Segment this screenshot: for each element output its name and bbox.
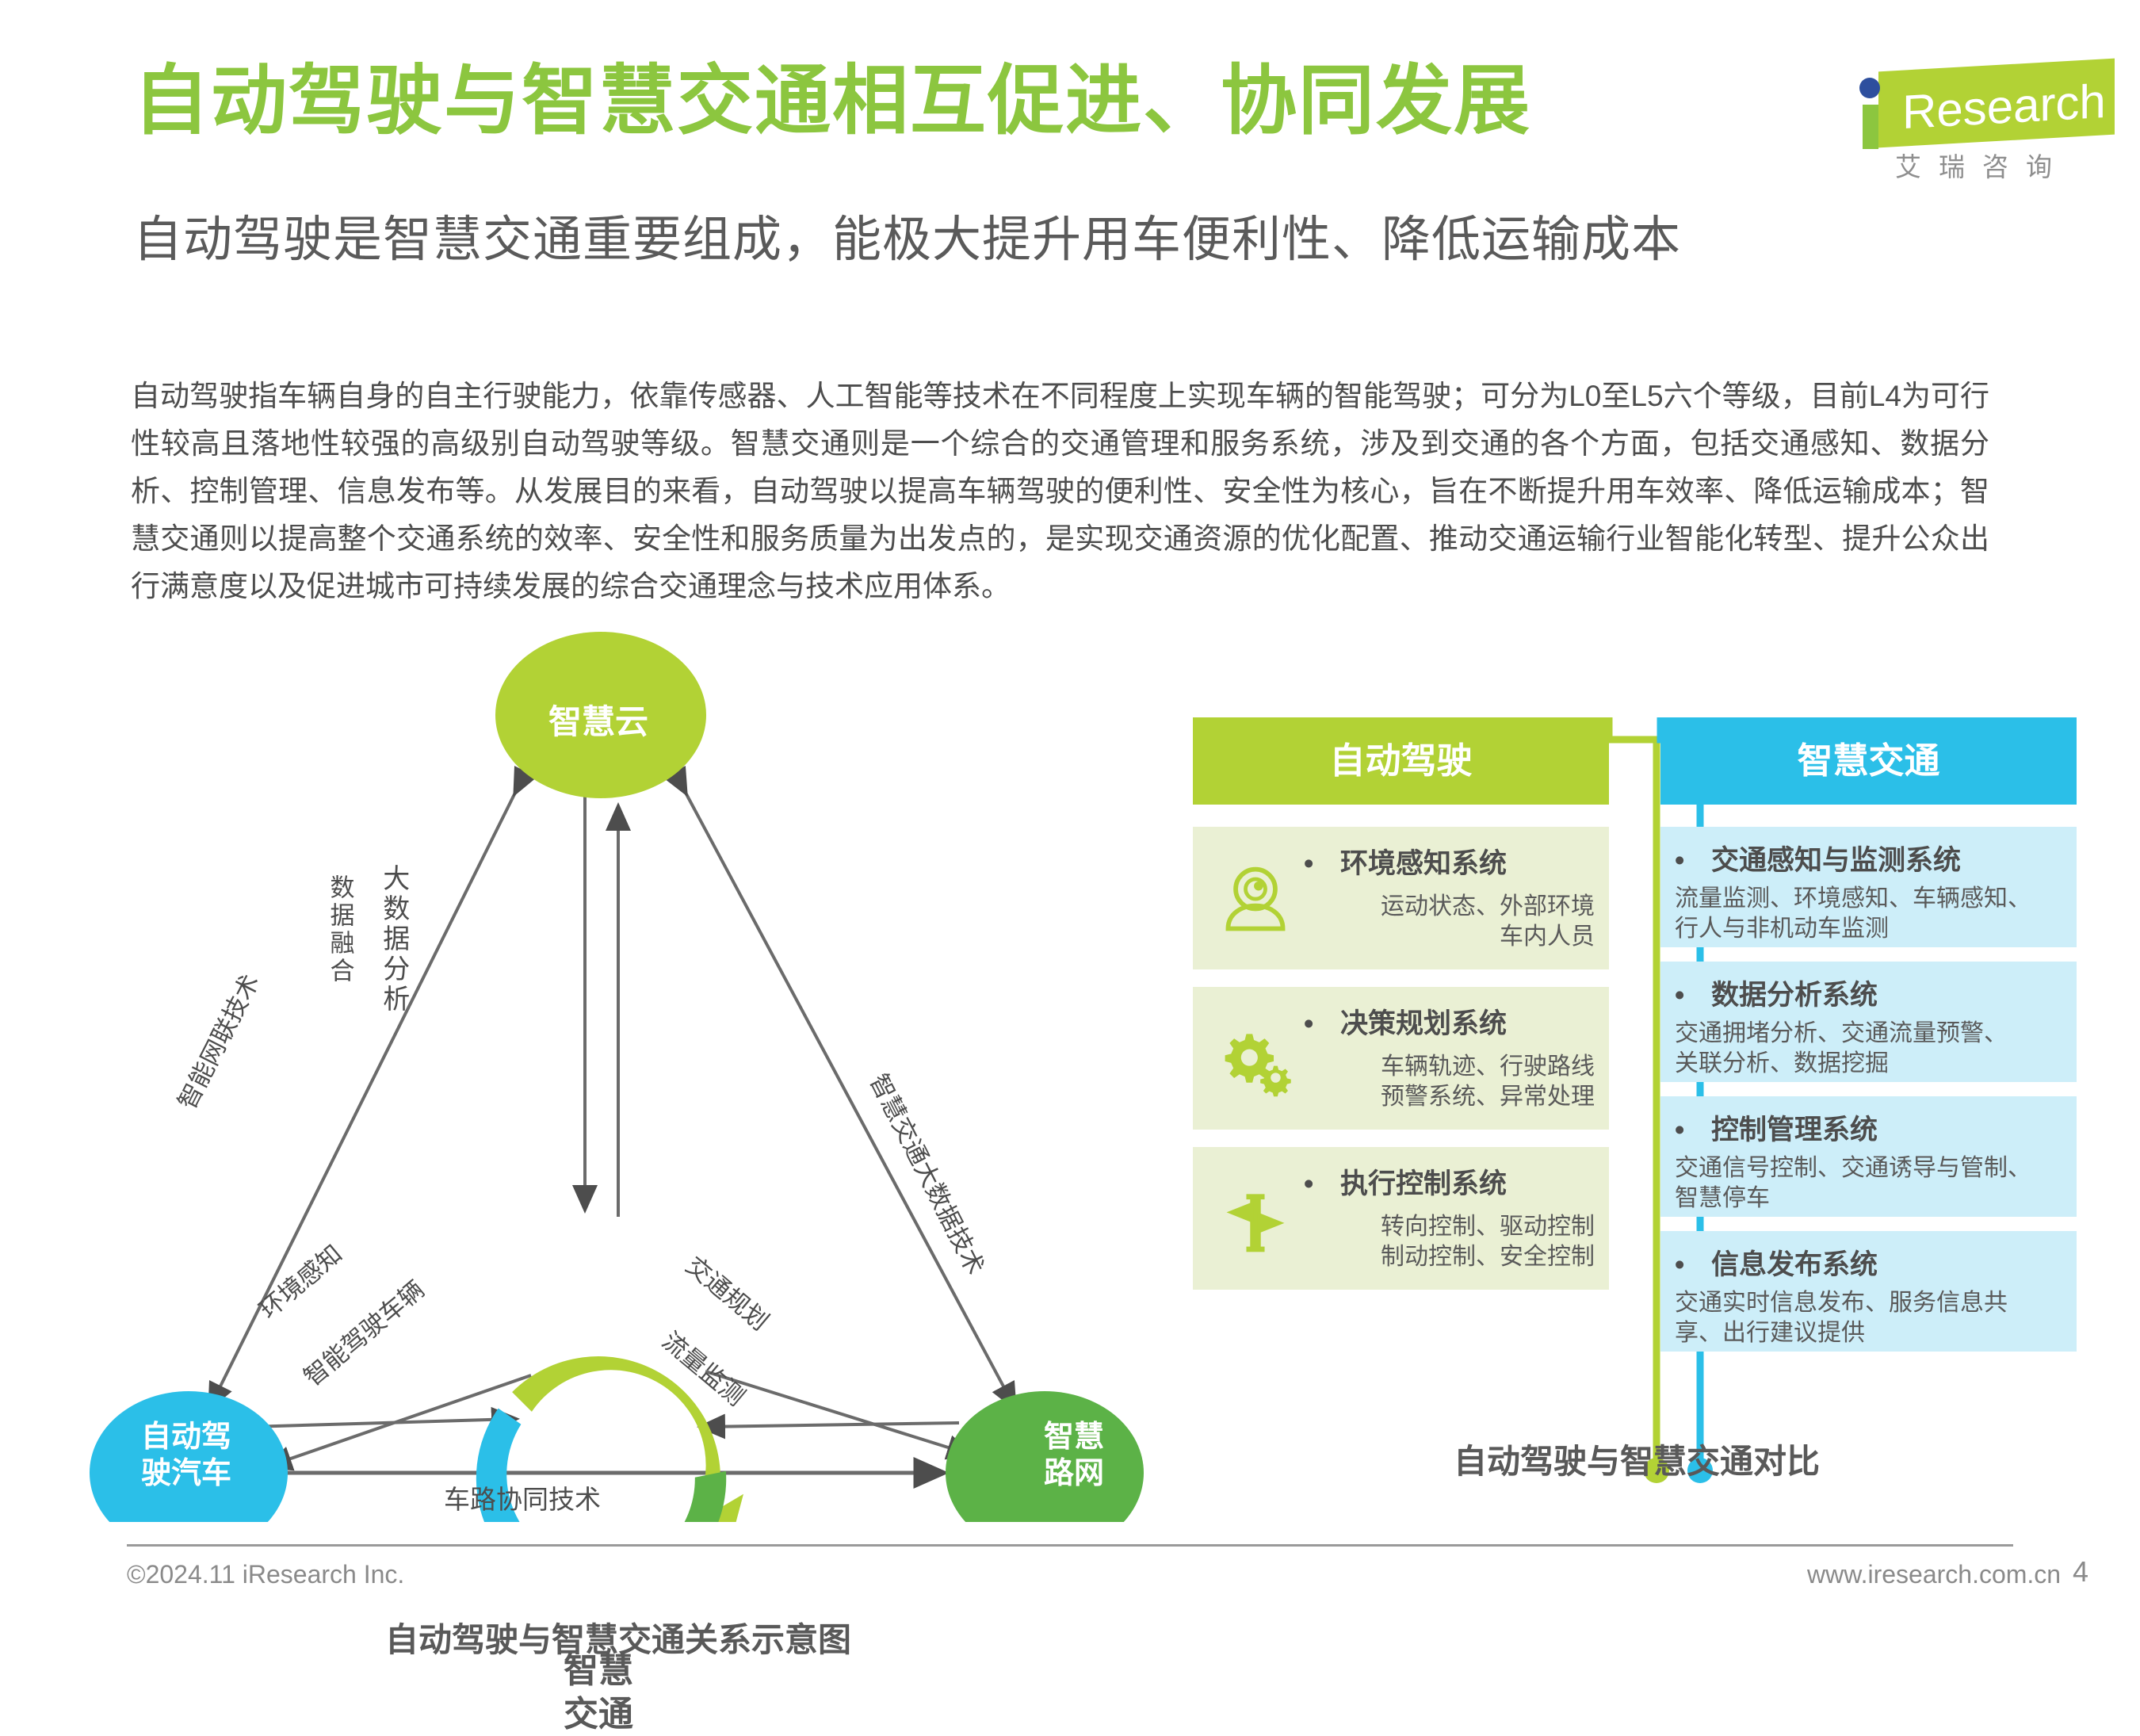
card-title-text: 信息发布系统 [1711,1249,1878,1280]
card-title-text: 环境感知系统 [1340,848,1507,879]
camera-icon [1207,862,1304,938]
card-title-text: 数据分析系统 [1711,980,1878,1011]
edge-cloud-car [210,793,515,1407]
card-title: •控制管理系统 [1675,1114,2062,1147]
card-environment-perception[interactable]: •环境感知系统 运动状态、外部环境 车内人员 [1193,827,1609,969]
page-title: 自动驾驶与智慧交通相互促进、协同发展 [133,63,1531,140]
card-description: 交通实时信息发布、服务信息共 享、出行建议提供 [1675,1288,2062,1349]
node-label-autonomous-car: 自动驾 驶汽车 [95,1419,277,1493]
card-traffic-perception[interactable]: •交通感知与监测系统 流量监测、环境感知、车辆感知、 行人与非机动车监测 [1660,827,2077,947]
card-title: •信息发布系统 [1675,1248,2062,1282]
edge-road-ring-up [701,1423,959,1427]
footer-copyright: ©2024.11 iResearch Inc. [127,1560,404,1589]
column-header-autonomous-driving: 自动驾驶 [1193,717,1609,805]
edge-label-data-fusion: 数据融合 [327,874,353,985]
footer-divider [127,1544,2013,1547]
comparison-caption: 自动驾驶与智慧交通对比 [1193,1435,2081,1483]
logo-chinese-name: 艾瑞咨询 [1847,146,2118,184]
edge-label-big-data-analysis: 大数据分析 [379,864,407,1015]
card-description: 流量监测、环境感知、车辆感知、 行人与非机动车监测 [1675,884,2062,945]
center-ring-label: 智慧 交通 [499,1649,697,1736]
card-title: •数据分析系统 [1675,979,2062,1012]
comparison-panel: 自动驾驶 •环境感知系统 运动状态、外部环境 车内人员 [1193,717,2081,1518]
card-decision-planning[interactable]: •决策规划系统 车辆轨迹、行驶路线 预警系统、异常处理 [1193,987,1609,1130]
card-text: •决策规划系统 车辆轨迹、行驶路线 预警系统、异常处理 [1304,1008,1595,1113]
card-description: 交通拥堵分析、交通流量预警、 关联分析、数据挖掘 [1675,1019,2062,1080]
bullet-icon: • [1675,979,1711,1012]
relationship-diagram: 智慧云 自动驾 驶汽车 智慧 路网 智慧 交通 数据融合 大数据分析 智能网联技… [71,626,1165,1522]
node-label-smart-road: 智慧 路网 [983,1419,1165,1493]
edge-ring-road-down [705,1371,971,1455]
card-description: 运动状态、外部环境 车内人员 [1304,892,1595,953]
column-header-smart-traffic: 智慧交通 [1660,717,2077,805]
card-title: •环境感知系统 [1304,847,1595,881]
direction-arrows-icon [1207,1182,1304,1258]
logo-wordmark: Research [1902,74,2106,140]
card-execution-control[interactable]: •执行控制系统 转向控制、驱动控制 制动控制、安全控制 [1193,1147,1609,1290]
card-text: •执行控制系统 转向控制、驱动控制 制动控制、安全控制 [1304,1168,1595,1273]
footer-website: www.iresearch.com.cn [1807,1560,2061,1589]
bullet-icon: • [1675,1114,1711,1147]
iresearch-logo: Research 艾瑞咨询 [1840,38,2118,177]
card-title-text: 交通感知与监测系统 [1711,845,1961,876]
footer-page-number: 4 [2073,1555,2088,1589]
card-data-analysis[interactable]: •数据分析系统 交通拥堵分析、交通流量预警、 关联分析、数据挖掘 [1660,962,2077,1082]
bullet-icon: • [1675,844,1711,878]
bullet-icon: • [1304,847,1340,881]
logo-i-stem [1863,105,1878,149]
edge-label-v2x: 车路协同技术 [444,1486,601,1514]
card-title: •决策规划系统 [1304,1008,1595,1041]
card-control-management[interactable]: •控制管理系统 交通信号控制、交通诱导与管制、 智慧停车 [1660,1096,2077,1217]
page-subtitle: 自动驾驶是智慧交通重要组成，能极大提升用车便利性、降低运输成本 [133,216,1681,265]
bullet-icon: • [1304,1168,1340,1201]
card-title-text: 控制管理系统 [1711,1115,1878,1145]
card-title-text: 执行控制系统 [1340,1168,1507,1199]
logo-i-dot [1859,78,1880,98]
page-header: 自动驾驶与智慧交通相互促进、协同发展 自动驾驶是智慧交通重要组成，能极大提升用车… [0,0,2140,198]
card-description: 转向控制、驱动控制 制动控制、安全控制 [1304,1212,1595,1273]
card-title-text: 决策规划系统 [1340,1008,1507,1039]
intro-paragraph: 自动驾驶指车辆自身的自主行驶能力，依靠传感器、人工智能等技术在不同程度上实现车辆… [131,373,1989,610]
gears-icon [1207,1022,1304,1098]
card-description: 车辆轨迹、行驶路线 预警系统、异常处理 [1304,1052,1595,1113]
bullet-icon: • [1304,1008,1340,1041]
node-label-smart-cloud: 智慧云 [499,702,697,742]
column-smart-traffic: 智慧交通 •交通感知与监测系统 流量监测、环境感知、车辆感知、 行人与非机动车监… [1660,717,2077,1352]
card-text: •环境感知系统 运动状态、外部环境 车内人员 [1304,847,1595,953]
diagram-caption: 自动驾驶与智慧交通关系示意图 [71,1613,1165,1661]
card-title: •执行控制系统 [1304,1168,1595,1201]
bullet-icon: • [1675,1248,1711,1282]
card-title: •交通感知与监测系统 [1675,844,2062,878]
diagram-svg [71,626,1165,1522]
card-information-release[interactable]: •信息发布系统 交通实时信息发布、服务信息共 享、出行建议提供 [1660,1231,2077,1352]
column-autonomous-driving: 自动驾驶 •环境感知系统 运动状态、外部环境 车内人员 [1193,717,1609,1290]
card-description: 交通信号控制、交通诱导与管制、 智慧停车 [1675,1153,2062,1214]
